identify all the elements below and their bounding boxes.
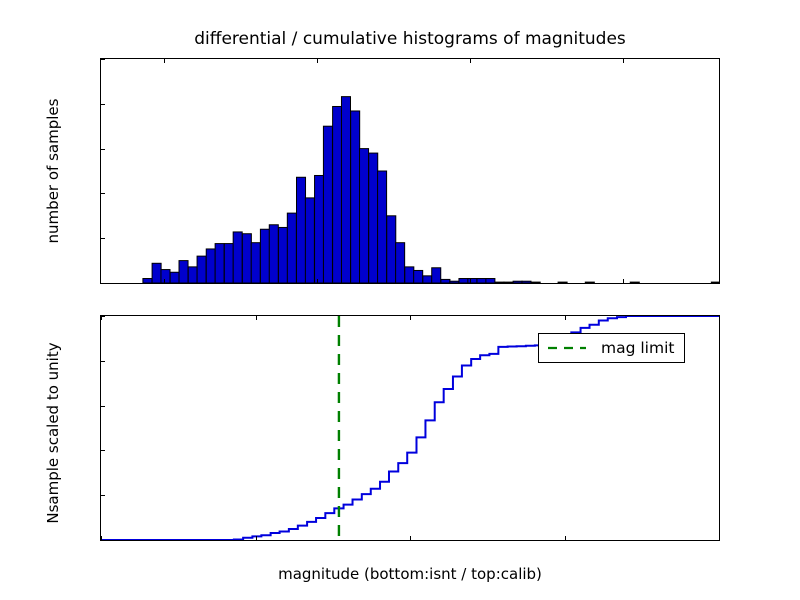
y-tick-mark-inner [101,361,105,362]
histogram-bar [143,279,152,283]
y-tick-mark-inner [101,406,105,407]
histogram-bar [224,244,233,283]
x-tick-mark [719,536,720,540]
histogram-bar [423,276,432,283]
histogram-bar [269,225,278,283]
histogram-bar [450,281,459,283]
histogram-bar [558,282,567,283]
y-tick-mark-inner [101,104,105,105]
x-tick-mark-top [719,316,720,320]
histogram-bar [414,270,423,283]
legend: mag limit [538,333,685,363]
x-tick-mark [164,279,165,283]
histogram-bar [369,153,378,283]
histogram-bar [504,282,513,283]
histogram-bar [152,263,161,283]
y-tick-mark-inner [101,238,105,239]
histogram-bar [396,243,405,283]
y-tick-mark-inner [101,193,105,194]
histogram-bar [378,171,387,283]
histogram-bar [278,227,287,283]
histogram-bar [459,279,468,283]
x-tick-mark-top [410,316,411,320]
x-tick-mark [470,279,471,283]
histogram-bar [179,261,188,283]
histogram-bar [360,149,369,283]
x-tick-mark-top [470,59,471,63]
y-tick-mark-inner [101,59,105,60]
histogram-bar [522,281,531,283]
histogram-bar [305,198,314,283]
histogram-bar [387,216,396,283]
histogram-bar [531,282,540,283]
x-tick-mark-top [623,59,624,63]
legend-label-mag-limit: mag limit [601,339,674,357]
top-panel-ylabel: number of samples [44,56,62,286]
y-tick-mark-inner [101,540,105,541]
histogram-bar [215,244,224,283]
x-tick-mark [256,536,257,540]
top-panel-axes: 050100150200250 15202530 [100,58,720,284]
x-tick-mark [565,536,566,540]
histogram-bar [341,97,350,283]
x-tick-mark [101,536,102,540]
histogram-bar [432,268,441,283]
histogram-bar [333,106,342,283]
histogram-bar [351,111,360,283]
differential-histogram-plot [101,59,719,283]
histogram-bar [242,234,251,283]
histogram-bar [486,279,495,283]
histogram-bar [495,282,504,283]
bottom-panel-xlabel: magnitude (bottom:isnt / top:calib) [100,565,720,583]
histogram-bar [206,249,215,283]
histogram-bar [188,267,197,283]
bottom-panel-axes: 0.00.20.40.60.81.0 -20-15-10-50 mag limi… [100,315,720,541]
histogram-bar [197,256,206,283]
bottom-panel-ylabel: Nsample scaled to unity [44,315,62,551]
histogram-bar [477,279,486,283]
histogram-bar [170,272,179,283]
x-tick-mark-top [101,316,102,320]
histogram-bar [513,281,522,283]
histogram-bar [297,177,306,283]
x-tick-mark-top [164,59,165,63]
y-tick-mark-inner [101,450,105,451]
histogram-bar [585,282,594,283]
histogram-bar [315,175,324,283]
y-tick-mark-inner [101,149,105,150]
mag-limit-line-icon [547,342,587,354]
histogram-bar [251,243,260,283]
histogram-bar [323,126,332,283]
x-tick-mark [410,536,411,540]
histogram-bar [711,282,719,283]
histogram-bar [161,270,170,283]
histogram-bar [233,232,242,283]
histogram-bar [405,267,414,283]
y-tick-mark [100,540,101,541]
x-tick-mark-top [317,59,318,63]
x-tick-mark [317,279,318,283]
histogram-bar [287,213,296,283]
y-tick-mark-inner [101,283,105,284]
x-tick-mark-top [256,316,257,320]
figure-title: differential / cumulative histograms of … [100,29,720,49]
x-tick-mark [623,279,624,283]
y-tick-mark [100,283,101,284]
histogram-bar [441,279,450,283]
y-tick-mark-inner [101,495,105,496]
histogram-bar [260,229,269,283]
histogram-bar [630,282,639,283]
matplotlib-figure: differential / cumulative histograms of … [0,0,800,600]
x-tick-mark-top [565,316,566,320]
